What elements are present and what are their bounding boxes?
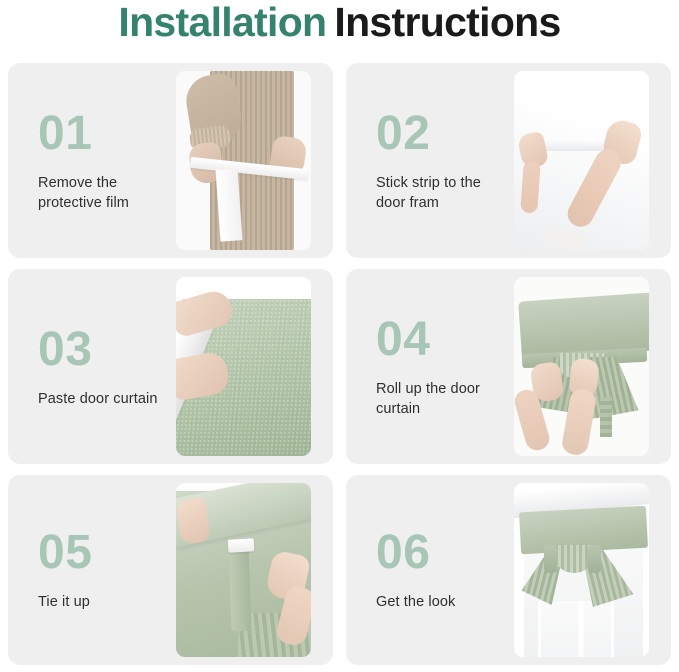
photo-03-scene (176, 277, 311, 456)
step-photo-wrap-04 (510, 269, 671, 464)
protective-film-strip-vertical (215, 168, 242, 241)
page-title-accent: Installation (118, 0, 326, 45)
step-card-03-text: 03 Paste door curtain (8, 269, 172, 464)
step-photo-04 (514, 277, 649, 456)
step-photo-05 (176, 483, 311, 657)
step-card-02[interactable]: 02 Stick strip to the door fram (346, 63, 671, 258)
photo-02-scene (514, 71, 649, 250)
step-number-06: 06 (376, 528, 510, 578)
step-card-01[interactable]: 01 Remove the protective film (8, 63, 333, 258)
step-label-03: Paste door curtain (38, 389, 163, 409)
page-title-plain: Instructions (334, 0, 560, 45)
step-card-06-text: 06 Get the look (346, 475, 510, 665)
step-photo-wrap-06 (510, 475, 671, 665)
step-label-04: Roll up the door curtain (376, 379, 501, 419)
step-card-03[interactable]: 03 Paste door curtain (8, 269, 333, 464)
step-card-02-text: 02 Stick strip to the door fram (346, 63, 510, 258)
right-tie-knot (588, 545, 601, 573)
step-card-04-text: 04 Roll up the door curtain (346, 269, 510, 464)
step-number-01: 01 (38, 109, 172, 159)
door-mullion-shape (579, 601, 584, 657)
step-photo-06 (514, 483, 649, 657)
step-label-01: Remove the protective film (38, 173, 163, 213)
photo-01-scene (176, 71, 311, 250)
step-number-03: 03 (38, 325, 172, 375)
tie-strap-shape (228, 545, 251, 632)
step-photo-03 (176, 277, 311, 456)
photo-04-scene (514, 277, 649, 456)
installation-instructions-page: InstallationInstructions 01 Remove the p… (0, 0, 679, 672)
step-photo-02 (514, 71, 649, 250)
step-label-05: Tie it up (38, 592, 163, 612)
door-glass-panel (538, 601, 614, 657)
step-card-05-text: 05 Tie it up (8, 475, 172, 665)
step-photo-01 (176, 71, 311, 250)
left-forearm-shape (520, 160, 541, 213)
photo-05-scene (176, 483, 311, 657)
step-number-04: 04 (376, 315, 510, 365)
step-photo-wrap-01 (172, 63, 333, 258)
photo-06-scene (514, 483, 649, 657)
step-label-06: Get the look (376, 592, 501, 612)
page-header: InstallationInstructions (0, 0, 679, 56)
white-clip-shape (227, 538, 254, 552)
step-label-02: Stick strip to the door fram (376, 173, 501, 213)
step-card-05[interactable]: 05 Tie it up (8, 475, 333, 665)
step-number-05: 05 (38, 528, 172, 578)
step-card-04[interactable]: 04 Roll up the door curtain (346, 269, 671, 464)
step-card-06[interactable]: 06 Get the look (346, 475, 671, 665)
step-number-02: 02 (376, 109, 510, 159)
step-card-01-text: 01 Remove the protective film (8, 63, 172, 258)
step-photo-wrap-02 (510, 63, 671, 258)
curtain-tail-shape (600, 397, 612, 437)
step-photo-wrap-03 (172, 269, 333, 464)
page-title: InstallationInstructions (118, 0, 560, 44)
steps-grid: 01 Remove the protective film (8, 63, 671, 665)
left-tie-knot (544, 545, 557, 573)
step-photo-wrap-05 (172, 475, 333, 665)
